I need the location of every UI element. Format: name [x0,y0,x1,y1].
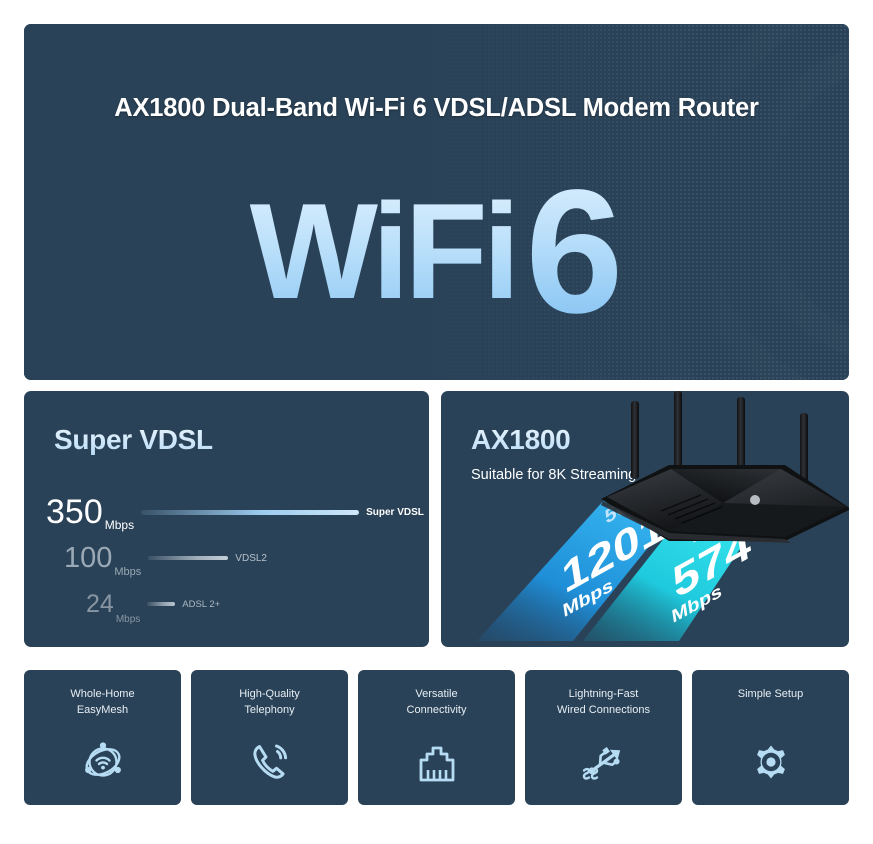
bar-fill [148,556,228,560]
feature-card-label: Whole-Home EasyMesh [70,687,134,719]
feature-card-high-quality-telephony[interactable]: High-Quality Telephony [191,670,348,805]
page-title: AX1800 Dual-Band Wi-Fi 6 VDSL/ADSL Modem… [24,94,849,123]
bar-value: 24 [86,592,114,617]
super-vdsl-panel: Super VDSL 350 Mbps Super VDSL 100 Mbps … [24,391,429,647]
bar-label: ADSL 2+ [182,599,220,610]
bar-fill [147,602,175,606]
chart-row: 100 Mbps VDSL2 [46,535,426,581]
wifi6-logo: WiFi6 [24,164,849,340]
bar-value: 100 [64,544,112,573]
ax1800-panel: AX1800 Suitable for 8K Streaming [441,391,849,647]
wifi6-logo-word: WiFi [250,175,516,327]
feature-card-simple-setup[interactable]: Simple Setup [692,670,849,805]
feature-cards-row: Whole-Home EasyMesh High-Quality Tele [24,670,849,805]
chart-row: 24 Mbps ADSL 2+ [46,581,426,627]
hero-banner: AX1800 Dual-Band Wi-Fi 6 VDSL/ADSL Modem… [24,24,849,380]
feature-card-versatile-connectivity[interactable]: Versatile Connectivity [358,670,515,805]
bar-label: VDSL2 [235,553,267,564]
feature-panels-row: Super VDSL 350 Mbps Super VDSL 100 Mbps … [24,391,849,647]
gear-icon [749,740,793,784]
bar-value: 350 [46,495,103,529]
chart-row: 350 Mbps Super VDSL [46,489,426,535]
feature-card-label: Simple Setup [738,687,803,703]
bar-unit: Mbps [105,518,134,535]
usb-superspeed-icon [581,740,627,784]
bar-unit: Mbps [114,566,141,581]
feature-card-label: Versatile Connectivity [407,687,467,719]
feature-card-whole-home-easymesh[interactable]: Whole-Home EasyMesh [24,670,181,805]
product-feature-page: AX1800 Dual-Band Wi-Fi 6 VDSL/ADSL Modem… [0,0,873,844]
feature-card-label: High-Quality Telephony [239,687,300,719]
feature-card-label: Lightning-Fast Wired Connections [557,687,650,719]
speed-comparison-chart: 350 Mbps Super VDSL 100 Mbps VDSL2 24 Mb… [46,489,426,627]
bar-label: Super VDSL [366,507,424,518]
router-product-illustration: 5GHz 1201 Mbps 2.4GHz 574 Mbps [455,391,849,647]
ethernet-port-icon [415,742,459,784]
easymesh-icon [81,740,125,784]
wifi6-logo-number: 6 [525,154,623,350]
bar-fill [141,510,359,515]
telephone-icon [248,740,292,784]
bar-unit: Mbps [116,614,140,627]
feature-card-lightning-fast-wired[interactable]: Lightning-Fast Wired Connections [525,670,682,805]
super-vdsl-title: Super VDSL [54,424,213,456]
